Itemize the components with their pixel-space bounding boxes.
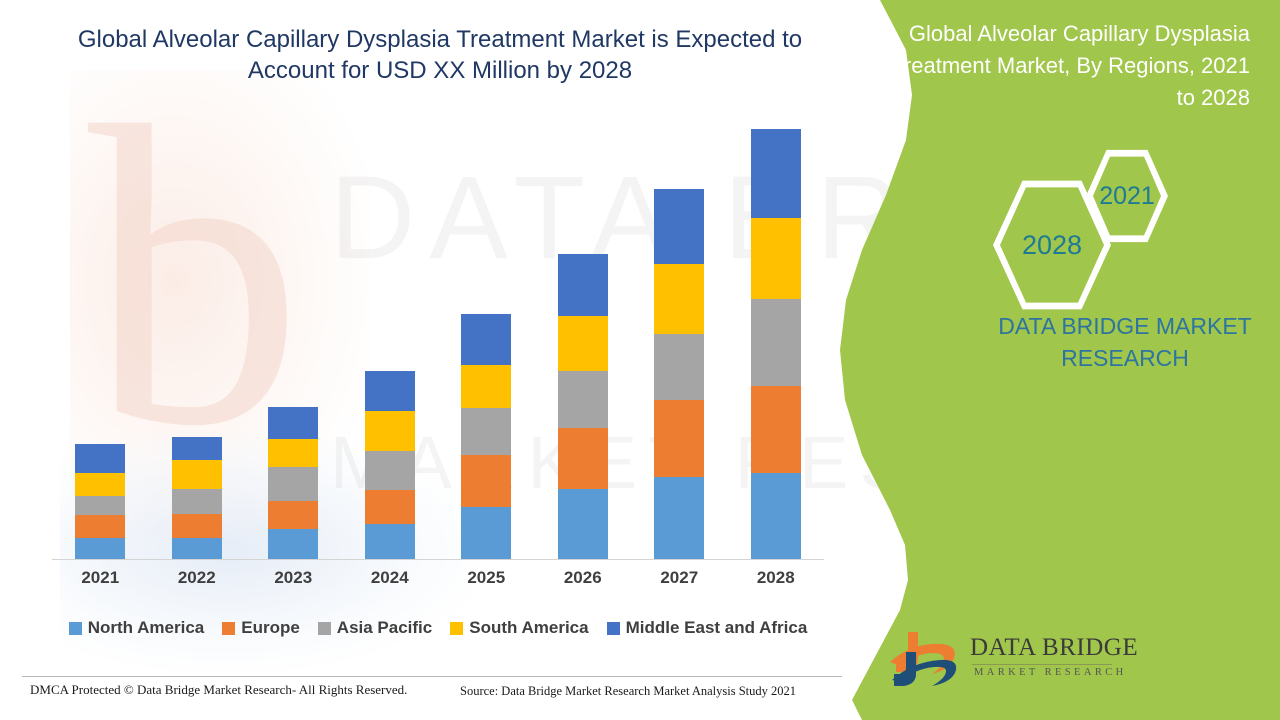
bar-segment[interactable]	[75, 515, 125, 538]
bar-segment[interactable]	[75, 538, 125, 559]
bar-column[interactable]	[654, 189, 704, 559]
bar-segment[interactable]	[172, 460, 222, 489]
legend-label: Europe	[241, 618, 300, 638]
logo-tagline: MARKET RESEARCH	[974, 667, 1127, 678]
infographic-page: b DATA BRIDGE MARKET RESEARCH Global Alv…	[0, 0, 1280, 720]
legend-label: North America	[88, 618, 205, 638]
legend-swatch-icon	[318, 622, 331, 635]
bar-segment[interactable]	[75, 473, 125, 496]
bar-segment[interactable]	[461, 365, 511, 408]
legend-swatch-icon	[607, 622, 620, 635]
bar-segment[interactable]	[654, 189, 704, 264]
x-axis-tick-label: 2022	[172, 568, 222, 594]
hexagon-2028-label: 2028	[1022, 230, 1082, 261]
bar-segment[interactable]	[268, 439, 318, 467]
bar-segment[interactable]	[172, 514, 222, 538]
bar-segment[interactable]	[558, 428, 608, 489]
bar-segment[interactable]	[751, 473, 801, 559]
bar-segment[interactable]	[365, 371, 415, 411]
bar-segment[interactable]	[558, 254, 608, 316]
bar-column[interactable]	[172, 437, 222, 559]
x-axis-tick-label: 2024	[365, 568, 415, 594]
x-axis-labels: 20212022202320242025202620272028	[52, 568, 824, 594]
bar-segment[interactable]	[461, 455, 511, 507]
x-axis-tick-label: 2027	[654, 568, 704, 594]
bar-column[interactable]	[268, 407, 318, 559]
legend-swatch-icon	[222, 622, 235, 635]
source-note: Source: Data Bridge Market Research Mark…	[460, 684, 796, 699]
bar-segment[interactable]	[461, 408, 511, 455]
bar-column[interactable]	[461, 314, 511, 559]
legend-item[interactable]: Middle East and Africa	[607, 618, 808, 638]
hexagon-2028: 2028	[993, 178, 1111, 312]
x-axis-tick-label: 2026	[558, 568, 608, 594]
bar-segment[interactable]	[268, 501, 318, 529]
bar-segment[interactable]	[365, 451, 415, 490]
brand-name-text: DATA BRIDGE MARKET RESEARCH	[975, 310, 1275, 374]
chart-plot-area	[52, 120, 824, 560]
legend-swatch-icon	[450, 622, 463, 635]
bar-segment[interactable]	[172, 538, 222, 559]
bar-segment[interactable]	[365, 490, 415, 525]
bar-segment[interactable]	[654, 477, 704, 559]
panel-title: Global Alveolar Capillary Dysplasia Trea…	[870, 18, 1250, 114]
x-axis-line	[52, 559, 824, 560]
bar-segment[interactable]	[172, 489, 222, 514]
chart-legend: North AmericaEuropeAsia PacificSouth Ame…	[52, 615, 824, 641]
company-logo: DATA BRIDGE MARKET RESEARCH	[888, 628, 1118, 690]
chart-title: Global Alveolar Capillary Dysplasia Trea…	[60, 24, 820, 86]
bar-segment[interactable]	[751, 299, 801, 387]
bar-segment[interactable]	[751, 129, 801, 218]
bar-column[interactable]	[751, 129, 801, 559]
bar-segment[interactable]	[268, 407, 318, 439]
bar-segment[interactable]	[268, 529, 318, 559]
footer-divider	[22, 676, 842, 677]
x-axis-tick-label: 2021	[75, 568, 125, 594]
legend-label: Asia Pacific	[337, 618, 432, 638]
legend-label: Middle East and Africa	[626, 618, 808, 638]
bar-segment[interactable]	[654, 400, 704, 477]
legend-swatch-icon	[69, 622, 82, 635]
bar-segment[interactable]	[558, 316, 608, 371]
bar-segment[interactable]	[558, 489, 608, 559]
bar-segment[interactable]	[654, 264, 704, 334]
bar-segment[interactable]	[461, 507, 511, 559]
bar-segment[interactable]	[558, 371, 608, 427]
bar-segment[interactable]	[365, 524, 415, 559]
legend-item[interactable]: Europe	[222, 618, 300, 638]
legend-item[interactable]: South America	[450, 618, 588, 638]
bar-segment[interactable]	[75, 444, 125, 473]
data-bridge-mark-icon	[888, 628, 970, 688]
bar-column[interactable]	[365, 371, 415, 559]
bar-group	[52, 121, 824, 559]
bar-segment[interactable]	[268, 467, 318, 502]
bar-column[interactable]	[75, 444, 125, 559]
bar-segment[interactable]	[365, 411, 415, 450]
x-axis-tick-label: 2028	[751, 568, 801, 594]
dmca-notice: DMCA Protected © Data Bridge Market Rese…	[30, 682, 407, 698]
legend-label: South America	[469, 618, 588, 638]
bar-column[interactable]	[558, 254, 608, 559]
bar-segment[interactable]	[751, 386, 801, 472]
bar-segment[interactable]	[75, 496, 125, 516]
logo-divider	[972, 664, 1112, 665]
logo-wordmark: DATA BRIDGE	[970, 634, 1138, 662]
bar-segment[interactable]	[461, 314, 511, 366]
bar-segment[interactable]	[751, 218, 801, 299]
hexagon-2021-label: 2021	[1099, 182, 1155, 211]
x-axis-tick-label: 2023	[268, 568, 318, 594]
legend-item[interactable]: North America	[69, 618, 205, 638]
x-axis-tick-label: 2025	[461, 568, 511, 594]
legend-item[interactable]: Asia Pacific	[318, 618, 432, 638]
bar-segment[interactable]	[654, 334, 704, 400]
bar-segment[interactable]	[172, 437, 222, 460]
